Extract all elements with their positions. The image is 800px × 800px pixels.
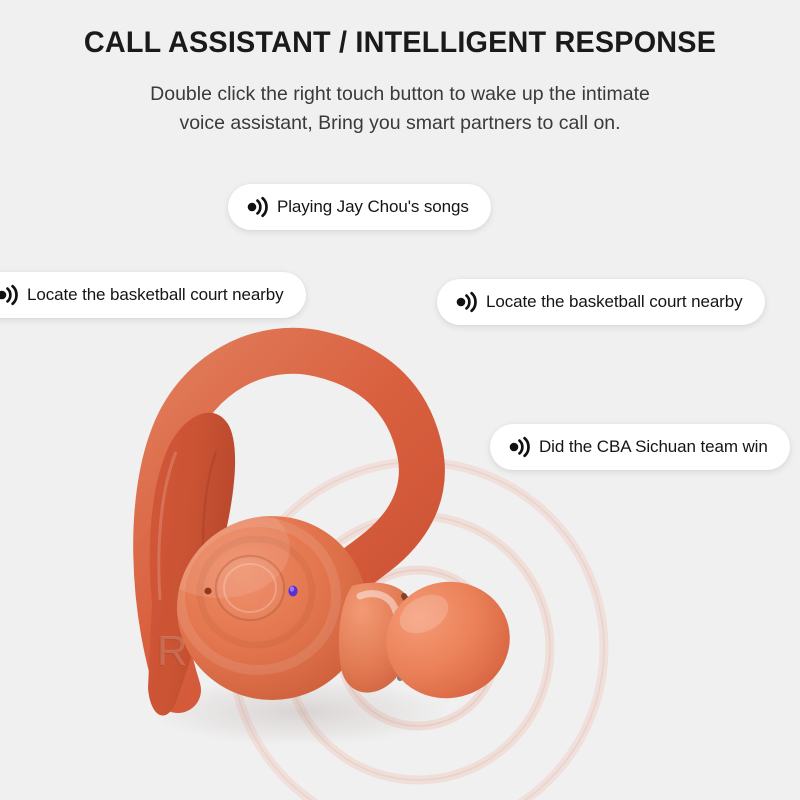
page-title: CALL ASSISTANT / INTELLIGENT RESPONSE <box>16 26 784 60</box>
bubble-label: Locate the basketball court nearby <box>27 285 284 305</box>
sound-wave-icon <box>246 196 270 218</box>
earbud-body <box>177 516 367 700</box>
svg-text:R: R <box>157 627 187 674</box>
product-feature-banner: R R CALL ASSISTANT / INTELLIGENT RESPONS… <box>0 0 800 800</box>
subtitle-line-2: voice assistant, Bring you smart partner… <box>100 109 700 138</box>
ear-hook-fin <box>148 413 235 716</box>
sound-wave-icon <box>508 436 532 458</box>
touch-button <box>216 556 284 620</box>
voice-command-bubble[interactable]: Locate the basketball court nearby <box>437 279 765 325</box>
voice-command-bubble[interactable]: Playing Jay Chou's songs <box>228 184 491 230</box>
ear-tip <box>374 569 522 712</box>
bubble-label: Locate the basketball court nearby <box>486 292 743 312</box>
ear-hook <box>156 351 422 690</box>
bubble-label: Playing Jay Chou's songs <box>277 197 469 217</box>
voice-command-bubble[interactable]: Did the CBA Sichuan team win <box>490 424 790 470</box>
microphone-hole <box>204 588 211 595</box>
side-marking-R: R <box>156 628 186 675</box>
status-led <box>288 586 297 597</box>
earbud-nozzle <box>339 583 415 693</box>
bubble-label: Did the CBA Sichuan team win <box>539 437 768 457</box>
sound-wave-rings <box>232 462 604 800</box>
sound-wave-icon <box>455 291 479 313</box>
voice-command-bubble[interactable]: Locate the basketball court nearby <box>0 272 306 318</box>
page-subtitle: Double click the right touch button to w… <box>100 80 700 138</box>
sound-wave-icon <box>0 284 20 306</box>
subtitle-line-1: Double click the right touch button to w… <box>100 80 700 109</box>
